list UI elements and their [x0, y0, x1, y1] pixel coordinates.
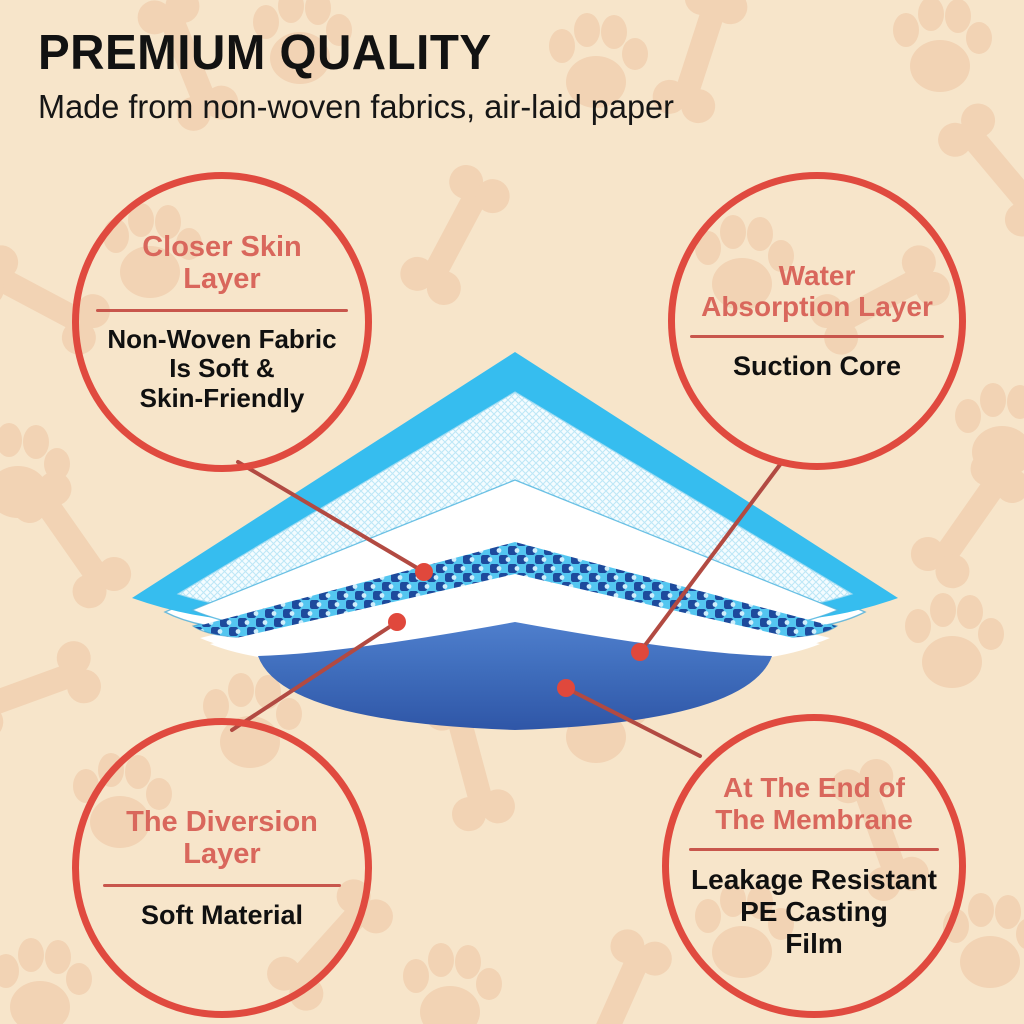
callout-title: At The End of The Membrane [715, 772, 913, 835]
callout-content: The Diversion Layer Soft Material [73, 806, 370, 931]
callout-closer-skin-layer[interactable]: Closer Skin Layer Non-Woven Fabric Is So… [72, 172, 372, 472]
callout-membrane-layer[interactable]: At The End of The Membrane Leakage Resis… [662, 714, 966, 1018]
callout-divider [103, 884, 341, 887]
callout-body: Suction Core [733, 351, 901, 382]
callout-water-absorption-layer[interactable]: Water Absorption Layer Suction Core [668, 172, 966, 470]
header-block: PREMIUM QUALITY Made from non-woven fabr… [38, 28, 684, 125]
callout-divider [690, 335, 944, 338]
callout-body: Soft Material [141, 900, 303, 931]
callout-body: Leakage Resistant PE Casting Film [691, 864, 937, 960]
page-title: PREMIUM QUALITY [38, 28, 664, 80]
callout-title: The Diversion Layer [126, 806, 318, 871]
callout-content: At The End of The Membrane Leakage Resis… [657, 772, 970, 959]
callout-content: Water Absorption Layer Suction Core [658, 260, 976, 382]
callout-divider [689, 848, 940, 851]
callout-content: Closer Skin Layer Non-Woven Fabric Is So… [65, 231, 380, 414]
callout-title: Water Absorption Layer [701, 260, 933, 323]
callout-body: Non-Woven Fabric Is Soft & Skin-Friendly [107, 325, 336, 414]
callout-title: Closer Skin Layer [142, 231, 302, 296]
infographic-canvas: PREMIUM QUALITY Made from non-woven fabr… [0, 0, 1024, 1024]
page-subtitle: Made from non-woven fabrics, air-laid pa… [38, 89, 674, 125]
callout-diversion-layer[interactable]: The Diversion Layer Soft Material [72, 718, 372, 1018]
callout-divider [96, 309, 348, 312]
